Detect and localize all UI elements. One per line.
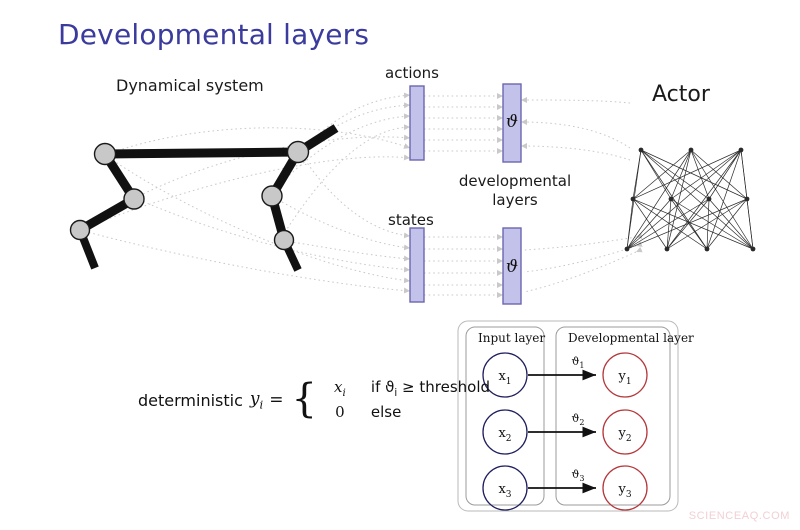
- edge-label: ϑ1: [572, 355, 585, 370]
- output-node-label: y1: [617, 369, 631, 387]
- edge-label: ϑ2: [572, 412, 585, 427]
- joint-node: [95, 144, 116, 165]
- actor-network: [625, 148, 756, 252]
- formula-lhs: yi: [250, 389, 263, 411]
- formula-case-row: 0 else: [323, 403, 490, 422]
- output-node-label: y2: [617, 426, 631, 444]
- inset-edges: [528, 375, 596, 488]
- deterministic-formula: deterministic yi = { xi if ϑi ≥ threshol…: [138, 378, 490, 422]
- formula-equals: =: [269, 390, 283, 410]
- joint-node: [288, 142, 309, 163]
- formula-cases: xi if ϑi ≥ threshold 0 else: [323, 378, 490, 422]
- input-node-label: x2: [498, 426, 511, 444]
- output-node-label: y3: [617, 482, 631, 500]
- developmental-layers-label: developmental layers: [455, 172, 575, 210]
- input-node-label: x3: [498, 482, 511, 500]
- formula-brace: {: [291, 379, 316, 419]
- joint-node: [71, 221, 90, 240]
- slide-root: ϑ ϑ: [0, 0, 800, 530]
- actions-label: actions: [385, 64, 439, 82]
- formula-case-condition: else: [371, 403, 401, 422]
- page-title: Developmental layers: [58, 18, 369, 51]
- input-layer-label: Input layer: [478, 331, 545, 345]
- formula-case-value: 0: [323, 403, 357, 422]
- actions-bar: [410, 86, 424, 160]
- dynamical-system-label: Dynamical system: [116, 76, 264, 95]
- developmental-layers-label-line1: developmental: [455, 172, 575, 191]
- joint-node: [275, 231, 294, 250]
- joint-node: [124, 189, 144, 209]
- joint-node: [262, 186, 282, 206]
- actions-developmental-bar-symbol: ϑ: [506, 112, 518, 132]
- inset-outer-box: [458, 321, 678, 511]
- developmental-layer-label: Developmental layer: [568, 331, 694, 345]
- connector-lines-actions-to-dev: [424, 96, 503, 151]
- states-developmental-bar-symbol: ϑ: [506, 257, 518, 277]
- formula-case-condition: if ϑi ≥ threshold: [371, 378, 490, 403]
- actor-label: Actor: [652, 82, 710, 107]
- inset-diagram: x1 x2 x3 y1 y2 y3 ϑ1 ϑ2 ϑ3: [458, 321, 678, 511]
- states-label: states: [388, 211, 434, 229]
- actor-network-edges: [627, 150, 753, 249]
- formula-case-row: xi if ϑi ≥ threshold: [323, 378, 490, 403]
- connector-lines-states-to-dev: [424, 237, 503, 295]
- edge-label: ϑ3: [572, 468, 585, 483]
- connector-lines-system-to-states: [80, 152, 410, 291]
- developmental-layers-label-line2: layers: [455, 191, 575, 210]
- actor-network-nodes: [625, 148, 756, 252]
- states-bar: [410, 228, 424, 302]
- formula-case-value: xi: [323, 378, 357, 403]
- connector-lines-system-to-actions: [80, 95, 410, 240]
- formula-lead: deterministic: [138, 391, 243, 410]
- watermark: SCIENCEAQ.COM: [689, 510, 790, 522]
- dynamical-system-figure: [71, 128, 337, 270]
- input-node-label: x1: [498, 369, 511, 387]
